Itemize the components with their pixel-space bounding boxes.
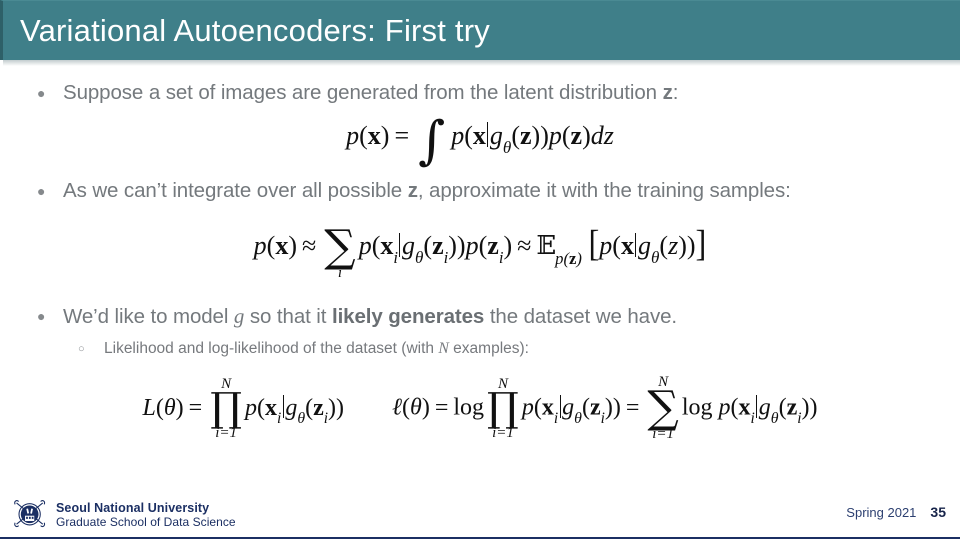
slide: Variational Autoencoders: First try ● Su… [0, 0, 960, 542]
school-name: Graduate School of Data Science [56, 515, 236, 529]
snu-crest-logo-icon [12, 498, 48, 532]
bullet-text-2: As we can’t integrate over all possible … [63, 177, 791, 205]
bullet-text-4: Likelihood and log-likelihood of the dat… [104, 337, 529, 361]
bullet-marker-hollow-icon: ○ [78, 337, 104, 361]
university-name-block: Seoul National University Graduate Schoo… [56, 501, 236, 530]
page-number: 35 [930, 504, 946, 520]
slide-footer: Seoul National University Graduate Schoo… [0, 492, 960, 542]
equation-3-expression: L(θ)=N∏i=1p(xigθ(zi)) [143, 377, 345, 442]
footer-divider [0, 537, 960, 539]
equation-1-expression: p(x)=∫p(xgθ(z))p(z)dz [346, 121, 614, 155]
bullet-item-2: ● As we can’t integrate over all possibl… [0, 177, 960, 205]
bullet-item-1: ● Suppose a set of images are generated … [0, 79, 960, 107]
bullet-marker-icon: ● [33, 177, 63, 205]
italic-N: N [438, 340, 449, 357]
bullet-marker-icon: ● [33, 79, 63, 107]
equation-4-expression: ℓ(θ)=logN∏i=1p(xigθ(zi))=N∑i=1log p(xigθ… [392, 375, 817, 443]
bullet-text-3: We’d like to model g so that it likely g… [63, 302, 677, 331]
equation-2-expression: p(x)≈ ∑ip(xigθ(zi))p(zi)≈𝔼p(z) [p(xgθ(z)… [254, 214, 707, 282]
italic-g: g [234, 304, 244, 328]
sum-operator-icon: N∑i=1 [647, 375, 678, 443]
bold-z-2: z [408, 179, 418, 202]
bold-likely-generates: likely generates [332, 305, 484, 328]
bullet-item-4: ○ Likelihood and log-likelihood of the d… [0, 337, 960, 361]
slide-title-bar: Variational Autoencoders: First try [0, 0, 960, 60]
footer-meta: Spring 2021 35 [846, 504, 946, 520]
slide-content: ● Suppose a set of images are generated … [0, 60, 960, 492]
equation-2: p(x)≈ ∑ip(xigθ(zi))p(zi)≈𝔼p(z) [p(xgθ(z)… [0, 214, 960, 282]
term-label: Spring 2021 [846, 505, 916, 520]
university-name: Seoul National University [56, 501, 236, 516]
bullet-item-3: ● We’d like to model g so that it likely… [0, 302, 960, 331]
product-operator-icon: N∏i=1 [487, 377, 519, 442]
bullet-text-1: Suppose a set of images are generated fr… [63, 79, 678, 107]
equation-1: p(x)=∫p(xgθ(z))p(z)dz [0, 121, 960, 155]
university-branding: Seoul National University Graduate Schoo… [12, 498, 236, 532]
equation-row-3-4: L(θ)=N∏i=1p(xigθ(zi)) ℓ(θ)=logN∏i=1p(xig… [0, 375, 960, 443]
product-operator-icon: N∏i=1 [210, 377, 242, 442]
sum-operator-icon: ∑i [324, 214, 355, 282]
bold-z-1: z [663, 81, 673, 104]
bullet-marker-icon: ● [33, 302, 63, 330]
page-title: Variational Autoencoders: First try [3, 15, 490, 46]
